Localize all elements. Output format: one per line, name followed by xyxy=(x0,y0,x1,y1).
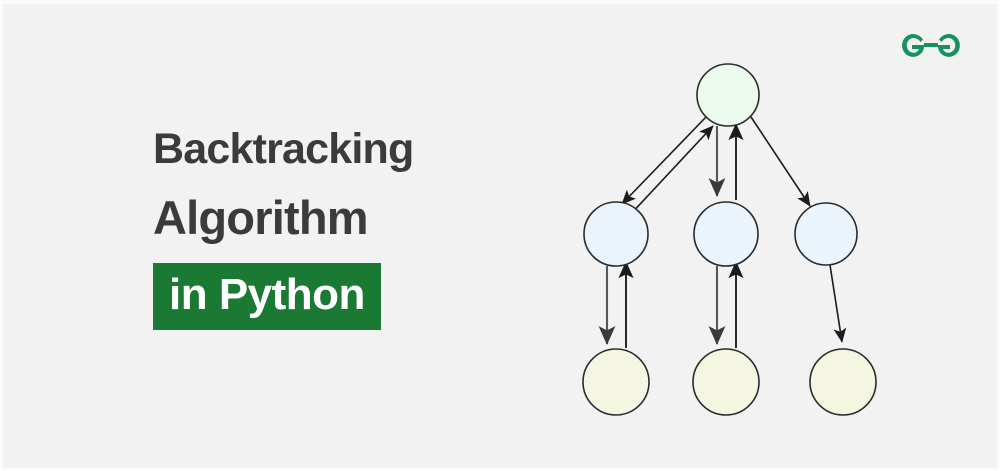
edge-root-n2 xyxy=(717,124,736,200)
title-line-2: Algorithm xyxy=(153,194,483,241)
title-highlight-wrapper: in Python xyxy=(153,263,381,330)
tree-node-level2-left[interactable] xyxy=(583,349,649,415)
edge-n3-n6 xyxy=(830,265,842,342)
edge-root-n3-down-arrow xyxy=(751,117,810,206)
edge-n1-n4 xyxy=(607,262,626,348)
edge-n3-n6-down-arrow xyxy=(830,265,842,342)
edge-root-n1-down-arrow xyxy=(622,117,706,204)
edge-n2-n5 xyxy=(717,262,736,348)
tree-node-level2-middle[interactable] xyxy=(693,349,759,415)
banner-root: Backtracking Algorithm in Python xyxy=(0,0,1000,471)
edge-root-n1 xyxy=(622,117,713,216)
tree-node-level1-left[interactable] xyxy=(584,202,648,266)
tree-node-level2-right[interactable] xyxy=(810,349,876,415)
tree-node-root[interactable] xyxy=(697,64,759,126)
title-line-1: Backtracking xyxy=(153,128,483,171)
tree-node-level1-right[interactable] xyxy=(795,203,857,265)
backtracking-tree-diagram xyxy=(543,34,963,454)
title-highlight-badge: in Python xyxy=(153,263,381,330)
title-block: Backtracking Algorithm in Python xyxy=(153,128,483,330)
edge-n1-root-up-arrow xyxy=(629,126,713,216)
edge-root-n3 xyxy=(751,117,810,206)
tree-node-level1-middle[interactable] xyxy=(694,202,758,266)
